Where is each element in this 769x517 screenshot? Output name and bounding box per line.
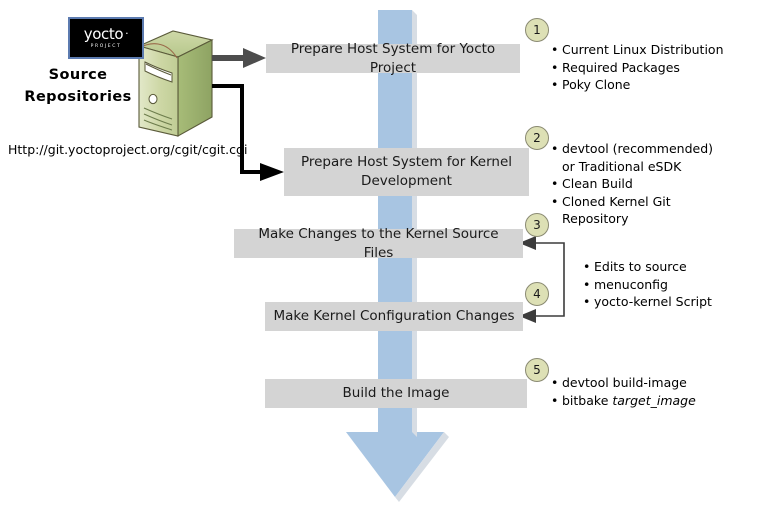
step2-box-label-line2: Development xyxy=(361,172,452,191)
bullet-dot-icon: • xyxy=(551,374,562,392)
step4-box[interactable]: Make Kernel Configuration Changes xyxy=(265,302,523,331)
list-item: • Current Linux Distribution xyxy=(551,41,761,59)
step-badge-5: 5 xyxy=(525,358,549,382)
list-item: • devtool (recommended) or Traditional e… xyxy=(551,140,723,175)
yocto-logo-subtitle: PROJECT xyxy=(91,43,122,50)
yocto-logo-word: yocto· xyxy=(84,26,128,42)
step5-box[interactable]: Build the Image xyxy=(265,379,527,408)
step5-note-1-text: devtool build-image xyxy=(562,375,687,390)
step-badge-3: 3 xyxy=(525,213,549,237)
source-label-line2: Repositories xyxy=(18,86,138,108)
bullet-dot-icon: • xyxy=(551,392,562,410)
bullet-dot-icon: • xyxy=(551,76,562,94)
yocto-logo-dot: · xyxy=(125,27,128,40)
step5-note-2: bitbake target_image xyxy=(562,392,751,410)
connector-source-to-step2 xyxy=(212,86,284,181)
step1-notes: • Current Linux Distribution • Required … xyxy=(551,41,761,94)
list-item: • devtool build-image xyxy=(551,374,751,392)
step3-step4-shared-notes: • Edits to source • menuconfig • yocto-k… xyxy=(583,258,758,311)
bullet-dot-icon: • xyxy=(551,41,562,59)
bullet-dot-icon: • xyxy=(551,59,562,77)
step-badge-2: 2 xyxy=(525,126,549,150)
connector-source-to-step1 xyxy=(212,48,266,68)
step-badge-4: 4 xyxy=(525,282,549,306)
step2-note-1: devtool (recommended) or Traditional eSD… xyxy=(562,140,723,175)
list-item: • yocto-kernel Script xyxy=(583,293,758,311)
list-item: • Poky Clone xyxy=(551,76,761,94)
step-badge-1-number: 1 xyxy=(533,23,541,37)
list-item: • Required Packages xyxy=(551,59,761,77)
step2-notes: • devtool (recommended) or Traditional e… xyxy=(551,140,723,228)
server-tower-icon xyxy=(139,31,212,136)
list-item: • bitbake target_image xyxy=(551,392,751,410)
step1-note-3: Poky Clone xyxy=(562,76,761,94)
step3-box-label: Make Changes to the Kernel Source Files xyxy=(242,225,515,263)
bullet-dot-icon: • xyxy=(583,293,594,311)
source-repositories-label: Source Repositories xyxy=(18,64,138,108)
step-badge-1: 1 xyxy=(525,18,549,42)
bullet-dot-icon: • xyxy=(551,193,562,211)
step-badge-4-number: 4 xyxy=(533,287,541,301)
step2-note-3: Cloned Kernel Git Repository xyxy=(562,193,723,228)
step3-box[interactable]: Make Changes to the Kernel Source Files xyxy=(234,229,523,258)
step5-note-2-emphasis: target_image xyxy=(612,393,695,408)
bullet-dot-icon: • xyxy=(583,258,594,276)
source-repositories-url: Http://git.yoctoproject.org/cgit/cgit.cg… xyxy=(8,142,247,157)
connector-notes-to-step3-step4 xyxy=(519,236,564,323)
list-item: • menuconfig xyxy=(583,276,758,294)
step5-note-1: devtool build-image xyxy=(562,374,751,392)
shared-note-3: yocto-kernel Script xyxy=(594,293,758,311)
list-item: • Edits to source xyxy=(583,258,758,276)
step-badge-3-number: 3 xyxy=(533,218,541,232)
list-item: • Cloned Kernel Git Repository xyxy=(551,193,723,228)
step-badge-5-number: 5 xyxy=(533,363,541,377)
step-badge-2-number: 2 xyxy=(533,131,541,145)
yocto-project-logo: yocto· PROJECT xyxy=(68,17,144,59)
bullet-dot-icon: • xyxy=(551,140,562,158)
list-item: • Clean Build xyxy=(551,175,723,193)
bullet-dot-icon: • xyxy=(583,276,594,294)
step2-box-label-line1: Prepare Host System for Kernel xyxy=(301,153,512,172)
step5-box-label: Build the Image xyxy=(343,384,450,403)
bullet-dot-icon: • xyxy=(551,175,562,193)
shared-note-1: Edits to source xyxy=(594,258,758,276)
step1-note-1: Current Linux Distribution xyxy=(562,41,761,59)
yocto-logo-word-text: yocto xyxy=(84,25,123,43)
step2-note-2: Clean Build xyxy=(562,175,723,193)
step5-notes: • devtool build-image • bitbake target_i… xyxy=(551,374,751,409)
step5-note-2-text: bitbake xyxy=(562,393,612,408)
step2-box[interactable]: Prepare Host System for Kernel Developme… xyxy=(284,148,529,196)
shared-note-2: menuconfig xyxy=(594,276,758,294)
step1-box[interactable]: Prepare Host System for Yocto Project xyxy=(266,44,520,73)
step1-box-label: Prepare Host System for Yocto Project xyxy=(274,40,512,78)
step1-note-2: Required Packages xyxy=(562,59,761,77)
source-label-line1: Source xyxy=(18,64,138,86)
step4-box-label: Make Kernel Configuration Changes xyxy=(273,307,514,326)
diagram-canvas: yocto· PROJECT Source Repositories Http:… xyxy=(0,0,769,517)
